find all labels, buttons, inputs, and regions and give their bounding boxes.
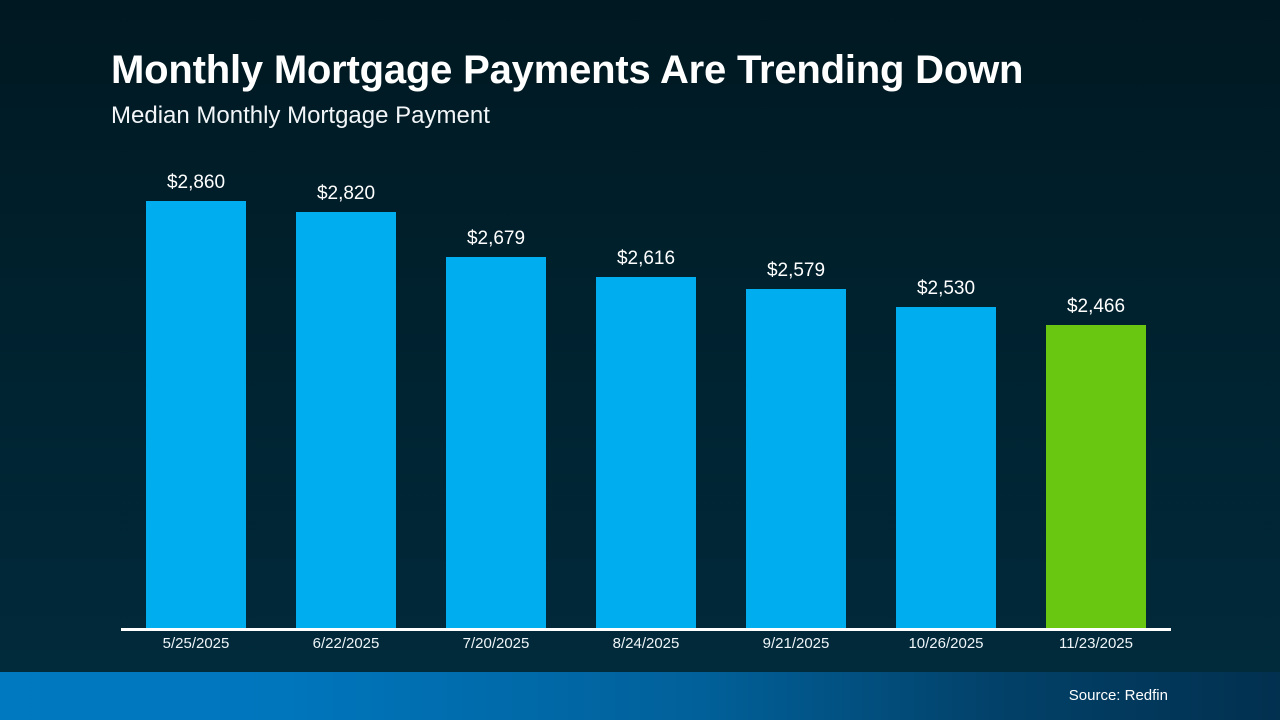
bar-group: $2,530 xyxy=(871,160,1021,629)
axis-tick-label: 5/25/2025 xyxy=(121,634,271,654)
bar-value-label: $2,579 xyxy=(767,260,825,282)
axis-tick-label: 8/24/2025 xyxy=(571,634,721,654)
chart-header: Monthly Mortgage Payments Are Trending D… xyxy=(111,44,1211,132)
axis-tick-label: 11/23/2025 xyxy=(1021,634,1171,654)
bar-rect[interactable] xyxy=(746,289,846,629)
bar-rect[interactable] xyxy=(446,257,546,629)
bar-group: $2,679 xyxy=(421,160,571,629)
bar-group: $2,616 xyxy=(571,160,721,629)
x-axis-tick-labels: 5/25/20256/22/20257/20/20258/24/20259/21… xyxy=(121,634,1171,654)
bar-value-label: $2,530 xyxy=(917,278,975,300)
chart-subtitle: Median Monthly Mortgage Payment xyxy=(111,100,1211,132)
bar-series: $2,860$2,820$2,679$2,616$2,579$2,530$2,4… xyxy=(121,160,1171,629)
bar-group: $2,579 xyxy=(721,160,871,629)
axis-tick-label: 10/26/2025 xyxy=(871,634,1021,654)
bar-rect[interactable] xyxy=(1046,325,1146,629)
bar-chart-plot-area: $2,860$2,820$2,679$2,616$2,579$2,530$2,4… xyxy=(121,160,1171,629)
axis-tick-label: 6/22/2025 xyxy=(271,634,421,654)
page-title: Monthly Mortgage Payments Are Trending D… xyxy=(111,44,1211,96)
x-axis-line xyxy=(121,628,1171,631)
bar-value-label: $2,820 xyxy=(317,183,375,205)
footer-bar: Source: Redfin xyxy=(0,672,1280,720)
bar-rect[interactable] xyxy=(596,277,696,629)
bar-value-label: $2,679 xyxy=(467,228,525,250)
bar-group: $2,466 xyxy=(1021,160,1171,629)
bar-rect[interactable] xyxy=(146,201,246,629)
source-attribution: Source: Redfin xyxy=(1069,686,1168,706)
bar-value-label: $2,616 xyxy=(617,248,675,270)
slide-canvas: Monthly Mortgage Payments Are Trending D… xyxy=(0,0,1280,720)
axis-tick-label: 7/20/2025 xyxy=(421,634,571,654)
bar-value-label: $2,466 xyxy=(1067,296,1125,318)
bar-rect[interactable] xyxy=(896,307,996,629)
bar-group: $2,860 xyxy=(121,160,271,629)
axis-tick-label: 9/21/2025 xyxy=(721,634,871,654)
bar-rect[interactable] xyxy=(296,212,396,629)
bar-value-label: $2,860 xyxy=(167,172,225,194)
bar-group: $2,820 xyxy=(271,160,421,629)
